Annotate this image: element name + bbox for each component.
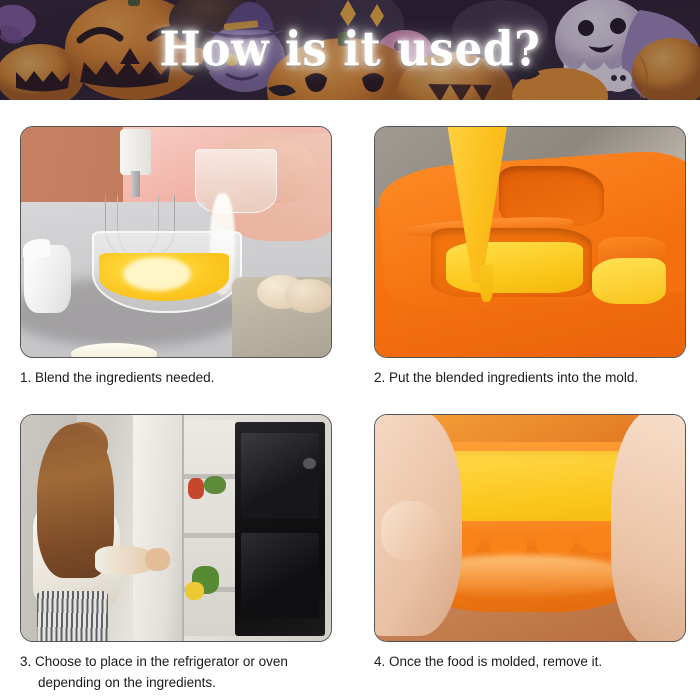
halloween-illustration [0, 0, 700, 100]
photo-filling-mold [374, 126, 686, 358]
photo-blending-ingredients [20, 126, 332, 358]
step-1-caption: 1. Blend the ingredients needed. [20, 368, 332, 389]
step-4: 4. Once the food is molded, remove it. [374, 414, 686, 673]
step-3-caption: 3. Choose to place in the refrigerator o… [20, 652, 332, 694]
photo-removing-molded-food [374, 414, 686, 642]
photo-refrigerator-or-oven [20, 414, 332, 642]
step-1: 1. Blend the ingredients needed. [20, 126, 332, 389]
halloween-banner-artwork [0, 0, 700, 100]
step-3: 3. Choose to place in the refrigerator o… [20, 414, 332, 694]
step-2-caption: 2. Put the blended ingredients into the … [374, 368, 686, 389]
steps-grid: 1. Blend the ingredients needed. 2. Put … [0, 100, 700, 700]
step-4-caption: 4. Once the food is molded, remove it. [374, 652, 686, 673]
header-banner: How is it used? [0, 0, 700, 100]
step-2: 2. Put the blended ingredients into the … [374, 126, 686, 389]
